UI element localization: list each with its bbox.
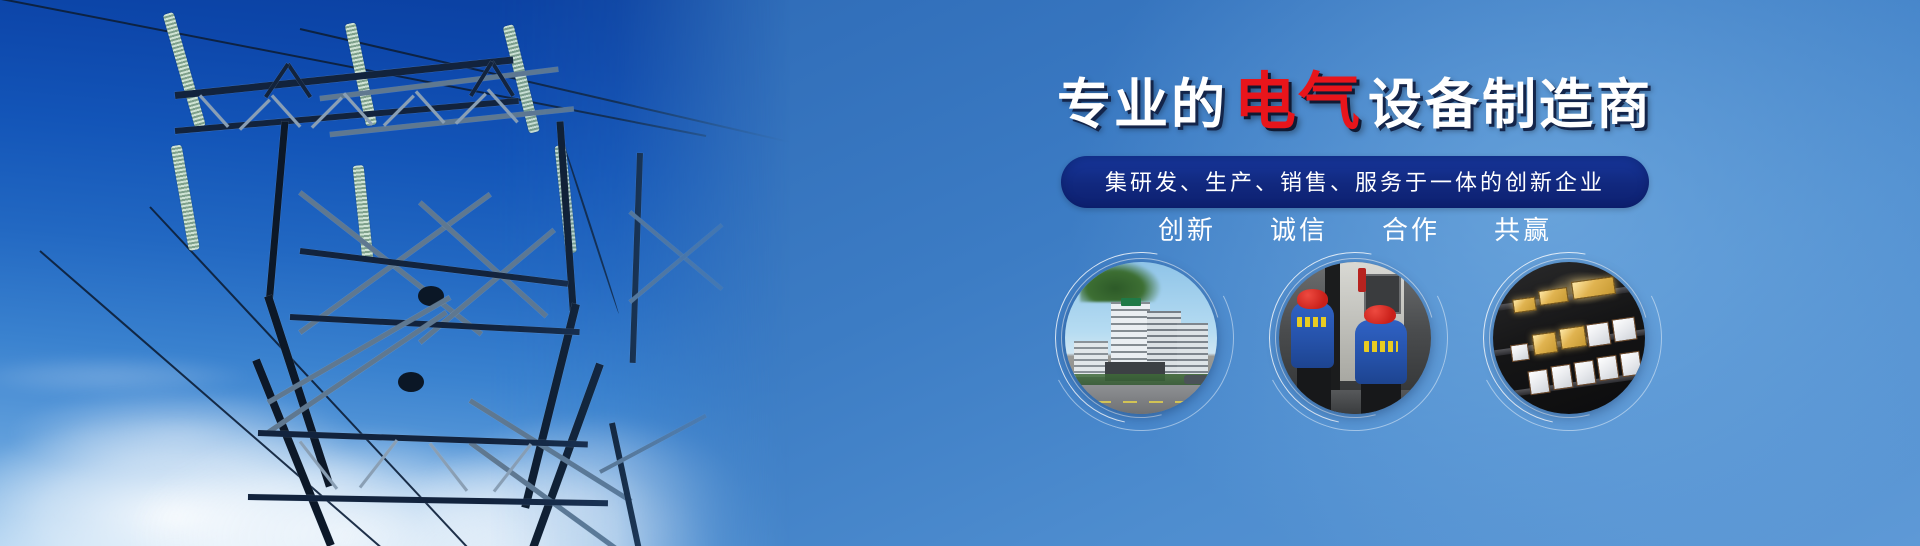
keyword-cooperation: 合作 [1382,210,1440,247]
thumbnail-office-building[interactable]: 公司办公大楼 [1065,262,1217,414]
thumbnail-row: 公司办公大楼 [790,262,1920,414]
hero-banner: 专业的电气设备制造商 集研发、生产、销售、服务于一体的创新企业 创新 诚信 合作… [0,0,1920,546]
office-building-photo [1065,262,1217,414]
headline-highlight: 电气 [1234,68,1362,137]
headline-part1: 专业的 [1057,75,1228,135]
workers-installation-photo [1279,262,1431,414]
headline: 专业的电气设备制造商 [790,72,1920,134]
keyword-integrity: 诚信 [1270,210,1328,247]
keyword-innovation: 创新 [1158,210,1216,247]
thumbnail-workers[interactable]: 现场安装施工 [1279,262,1431,414]
thumbnail-certificates[interactable]: 荣誉资质墙 [1493,262,1645,414]
certificates-wall-photo [1493,262,1645,414]
lattice-tower-structure [0,0,790,546]
keyword-list: 创新 诚信 合作 共赢 [790,210,1920,247]
keyword-winwin: 共赢 [1494,210,1552,247]
tagline-pill: 集研发、生产、销售、服务于一体的创新企业 [1061,156,1649,208]
banner-content: 专业的电气设备制造商 集研发、生产、销售、服务于一体的创新企业 创新 诚信 合作… [790,0,1920,546]
transmission-tower-photo [0,0,790,546]
headline-part2: 设备制造商 [1368,75,1653,135]
